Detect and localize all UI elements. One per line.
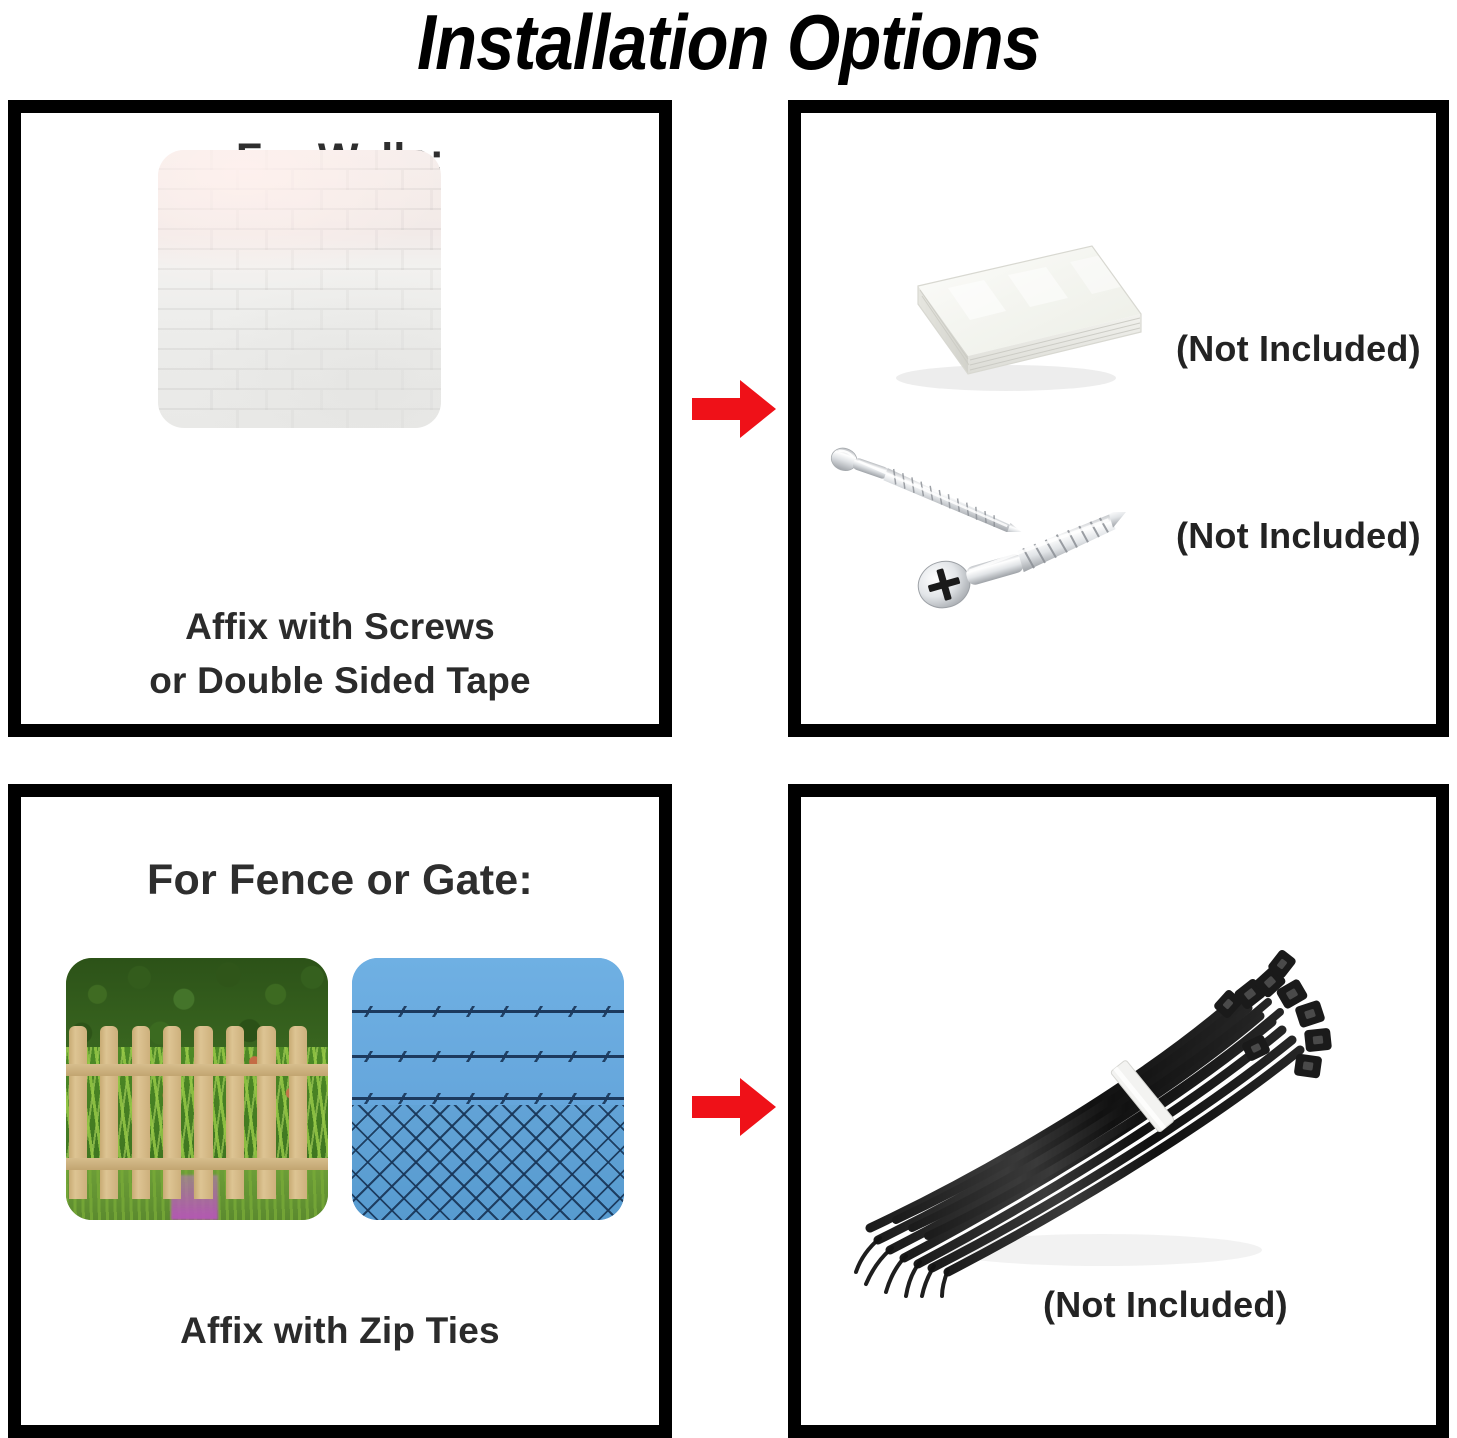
- screws-not-included-label: (Not Included): [1176, 515, 1421, 557]
- arrow-right-icon-top: [690, 378, 778, 440]
- barbed-wire-strand-3: [352, 1097, 624, 1100]
- black-zip-ties-bundle: [852, 898, 1342, 1298]
- ziptie-not-included-label: (Not Included): [1043, 1284, 1288, 1326]
- chain-link-barbed-wire-fence-photo: [352, 958, 624, 1220]
- barbed-wire-strand-1: [352, 1010, 624, 1013]
- walls-caption-line-2: or Double Sided Tape: [8, 660, 672, 702]
- picket-boards: [66, 1026, 328, 1199]
- wood-screw-lower: [912, 512, 1160, 612]
- double-sided-tape-stack: [856, 228, 1156, 408]
- brick-light-wash: [158, 150, 441, 428]
- chain-link-mesh: [352, 1105, 624, 1220]
- arrow-right-icon-bottom: [690, 1076, 778, 1138]
- wooden-picket-fence-photo: [66, 958, 328, 1220]
- fence-caption: Affix with Zip Ties: [8, 1310, 672, 1352]
- white-brick-wall-photo: [158, 150, 441, 428]
- page-title: Installation Options: [87, 0, 1369, 88]
- walls-caption-line-1: Affix with Screws: [8, 606, 672, 648]
- tape-not-included-label: (Not Included): [1176, 328, 1421, 370]
- panel-wall-hardware-inner: [801, 113, 1436, 724]
- for-fence-heading: For Fence or Gate:: [8, 856, 672, 905]
- barbed-wire-strand-2: [352, 1055, 624, 1058]
- panel-wall-hardware: [788, 100, 1449, 737]
